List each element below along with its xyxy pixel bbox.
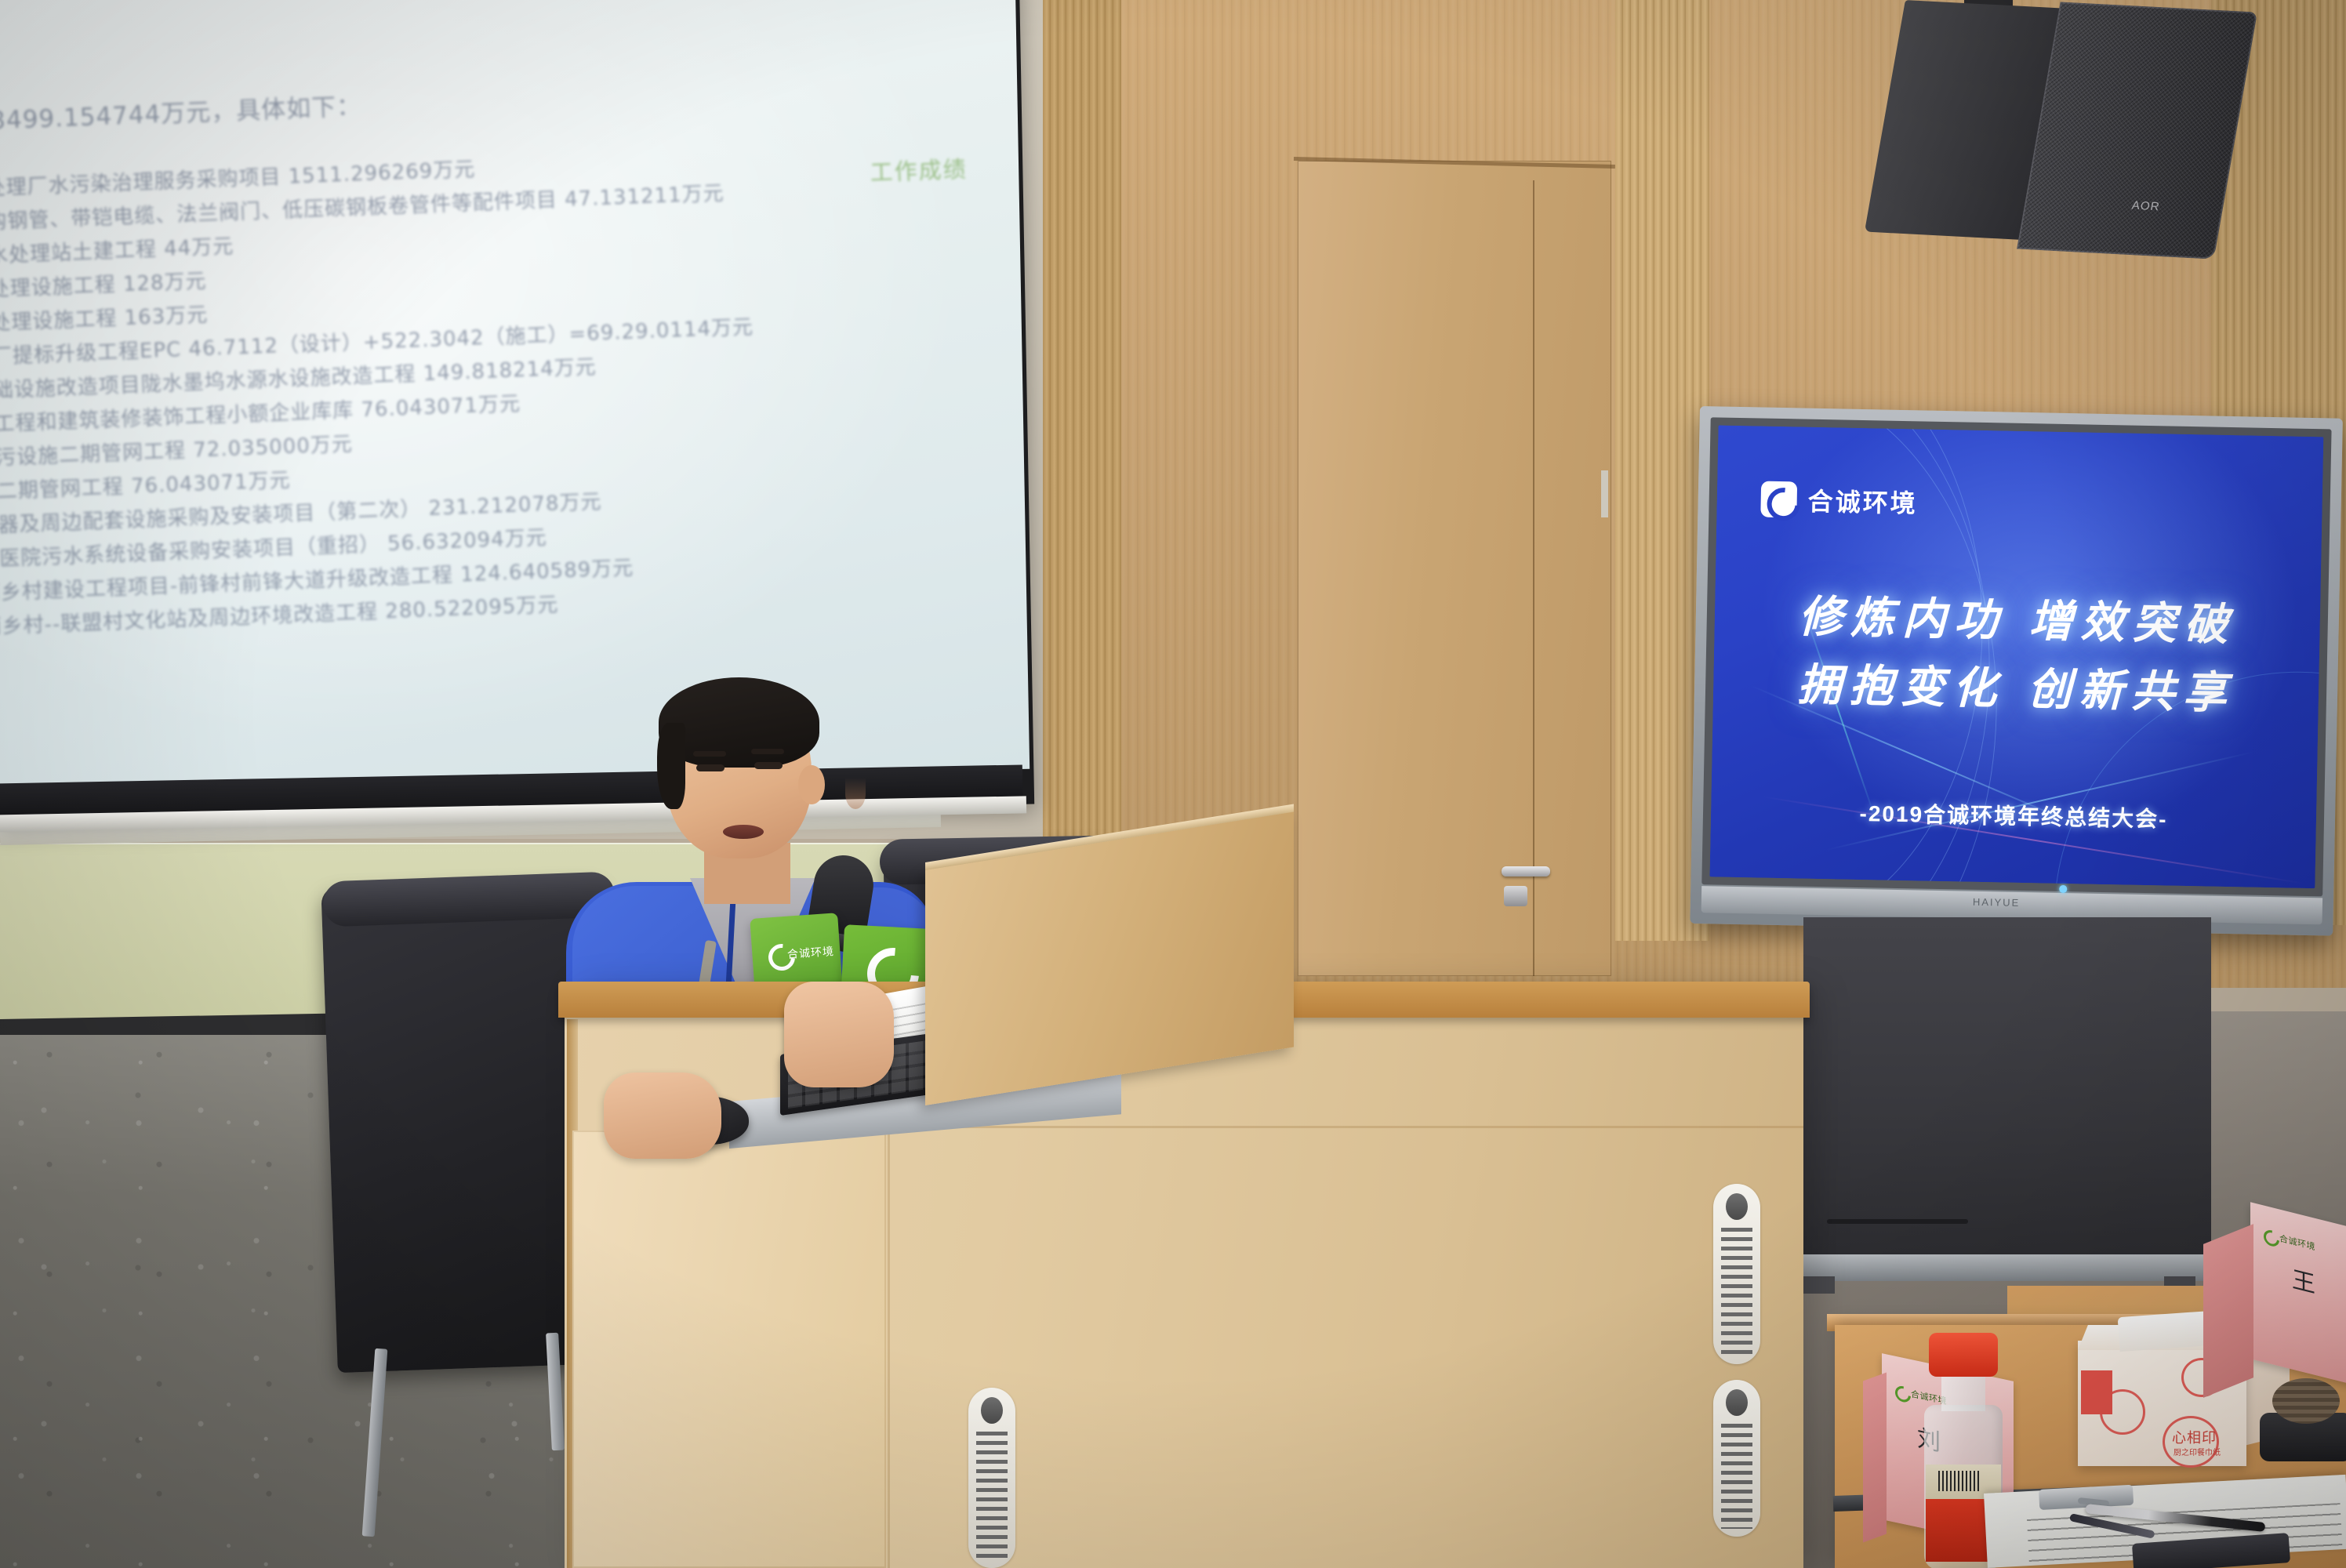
tissue-brand-sub: 厨之印餐巾纸	[2173, 1446, 2221, 1457]
bottle-barcode	[1938, 1471, 1981, 1491]
vent-dot	[1726, 1193, 1748, 1220]
tv-headline: 修炼内功 增效突破 拥抱变化 创新共享	[1712, 582, 2320, 729]
tissue-brand-name: 心相印	[2172, 1427, 2217, 1447]
ceiling-pa-speaker: AOR	[1863, 0, 2253, 257]
bottle-neck	[1941, 1374, 1985, 1411]
microphone-flag-text: 合诚环境	[786, 943, 834, 962]
presenter-hand-on-mouse	[604, 1073, 721, 1159]
slide-section-tag: 工作成绩	[870, 151, 968, 187]
hair-sideburn	[657, 723, 685, 809]
bottle-cap[interactable]	[1929, 1333, 1998, 1377]
tv-headline-line-1: 修炼内功 增效突破	[1714, 582, 2321, 662]
tissue-brand-block	[2081, 1370, 2112, 1414]
tv-logo: 合诚环境	[1760, 481, 1918, 521]
door-lock[interactable]	[1504, 886, 1527, 906]
door-leaf-seam	[1533, 180, 1534, 976]
hecheng-logo-icon	[2263, 1228, 2275, 1243]
eye-right	[754, 762, 783, 769]
presenter-hand-holding-microphone	[784, 982, 894, 1087]
interactive-flat-panel-display[interactable]: 合诚环境 修炼内功 增效突破 拥抱变化 创新共享 -2019合诚环境年终总结大会…	[1690, 406, 2343, 936]
vent-slats	[1721, 1424, 1752, 1529]
eye-left	[696, 764, 724, 771]
vent-slats	[1721, 1228, 1752, 1356]
podium-top-seam	[894, 1126, 1803, 1128]
nose	[845, 778, 866, 809]
podium-vent-grille-mid	[1713, 1184, 1760, 1364]
conference-room-photo: 额：3499.154744万元，具体如下： 污水处理厂水污染治理服务采购项目 1…	[0, 0, 2346, 1568]
tv-screen[interactable]: 合诚环境 修炼内功 增效突破 拥抱变化 创新共享 -2019合诚环境年终总结大会…	[1709, 425, 2323, 888]
door-handle[interactable]	[1502, 866, 1550, 877]
projection-screen: 额：3499.154744万元，具体如下： 污水处理厂水污染治理服务采购项目 1…	[0, 0, 1030, 788]
podium-vent-grille-right	[1713, 1380, 1760, 1537]
eyebrow-right	[751, 749, 784, 754]
vent-slats	[976, 1432, 1008, 1560]
tv-stand-column	[1803, 917, 2211, 1262]
name-card-side	[2203, 1224, 2253, 1398]
tv-power-led	[2059, 885, 2067, 893]
podium-front-panel	[572, 1131, 886, 1568]
ear	[798, 765, 825, 804]
vent-dot	[981, 1397, 1003, 1424]
tv-logo-text: 合诚环境	[1807, 482, 1918, 521]
speaker-brand-label: AOR	[2130, 199, 2161, 214]
name-tent-card-2: 合诚环境 王	[2195, 1207, 2346, 1403]
eyebrow-left	[693, 751, 726, 757]
hecheng-logo-icon	[1894, 1384, 1907, 1399]
tv-stand-foot-left	[1803, 1276, 1835, 1294]
meeting-room-door[interactable]	[1298, 161, 1611, 976]
podium-vent-grille-left	[968, 1388, 1015, 1568]
tv-brand-label: HAIYUE	[1973, 896, 2021, 909]
name-card-side	[1863, 1373, 1887, 1543]
tv-cable	[1827, 1219, 1968, 1224]
door-hinge-lower	[1601, 470, 1608, 517]
vent-dot	[1726, 1389, 1748, 1416]
tv-headline-line-2: 拥抱变化 创新共享	[1712, 650, 2319, 730]
mouth	[723, 825, 764, 839]
hecheng-logo-icon	[1760, 481, 1797, 518]
wood-slat-panel-left	[1043, 0, 1121, 964]
slide-text-block: 额：3499.154744万元，具体如下： 污水处理厂水污染治理服务采购项目 1…	[0, 60, 1030, 645]
